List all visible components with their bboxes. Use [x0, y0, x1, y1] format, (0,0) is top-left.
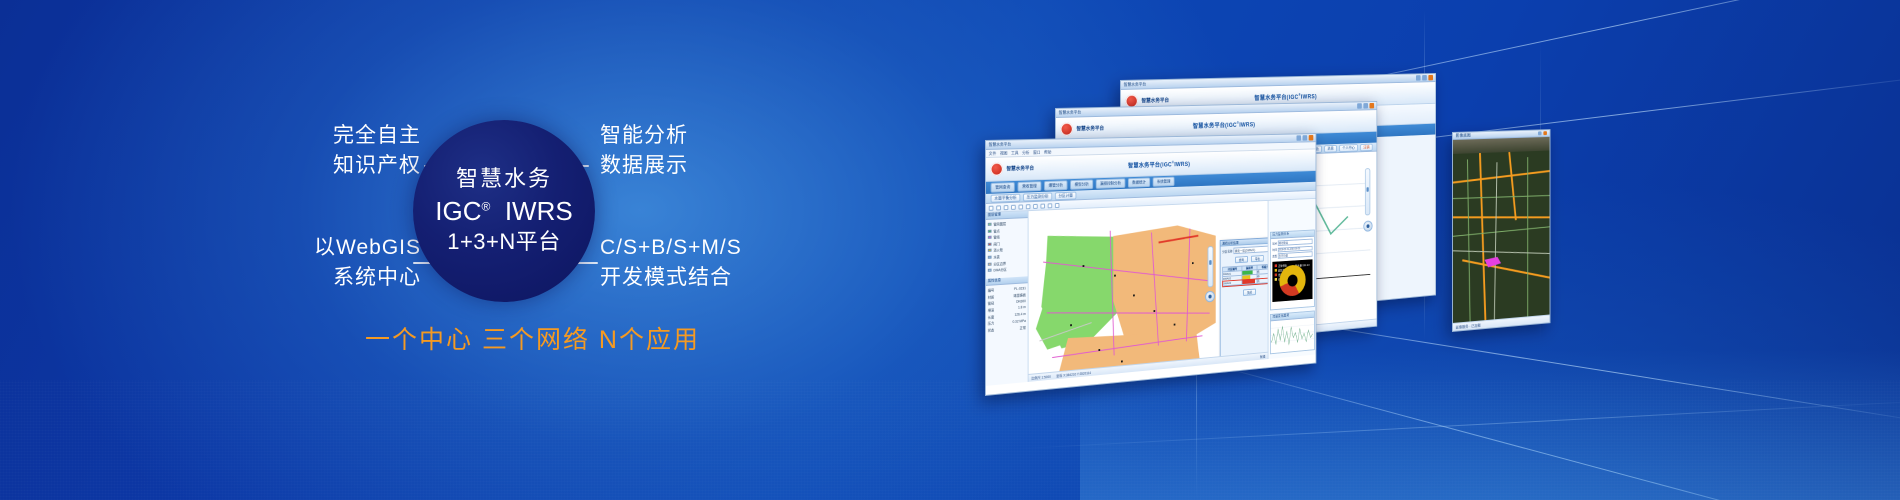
tree-node-label: 管点 — [993, 228, 999, 233]
tree-node-label: 分区边界 — [993, 260, 1006, 266]
core-badge: 智慧水务 IGC® IWRS 1+3+N平台 — [413, 120, 595, 302]
property-value: 1.8 m — [1018, 306, 1026, 311]
map-node[interactable] — [1114, 275, 1115, 277]
app-logo-icon — [1061, 123, 1073, 136]
window-controls[interactable] — [1296, 135, 1313, 141]
tree-node-label: 水表 — [993, 254, 999, 259]
status-coords: 坐标 X:384210 Y:3520114 — [1056, 370, 1091, 378]
feature-line-1: C/S+B/S+M/S — [600, 236, 742, 259]
cell-code: DMA03 — [1223, 280, 1242, 286]
feature-line-2: 开发模式结合 — [600, 263, 742, 293]
map-node[interactable] — [1154, 310, 1155, 312]
map-canvas[interactable]: 漏损分析结果 分区名称 城北一区(DMA01) 查询 导出 — [1029, 201, 1268, 382]
type-value[interactable]: 日平均值 — [1278, 251, 1313, 259]
status-text: 影像服务 · 已加载 — [1456, 322, 1481, 329]
left-pane: 图层管理 管网图层 管点 管线 阀门 消火栓 水表 分区边界 DMA分区 属性信… — [986, 211, 1029, 386]
hero-banner: 智慧水务 IGC® IWRS 1+3+N平台 完全自主 知识产权 智能分析 数据… — [0, 0, 1900, 500]
sub-tab-item[interactable]: 分区计量 — [1055, 191, 1076, 200]
tab-item[interactable]: 数据统计 — [1128, 177, 1150, 187]
tree-node-label: 管网图层 — [993, 221, 1006, 227]
core-code-main: IGC — [435, 196, 481, 226]
satellite-map[interactable] — [1453, 137, 1550, 331]
registered-mark-icon: ® — [482, 199, 491, 213]
property-key: 压力 — [988, 320, 994, 325]
dialog-footer[interactable]: 关闭 — [1222, 287, 1267, 297]
tree-node-label: DMA分区 — [993, 267, 1006, 273]
map-zoom-slider[interactable] — [1208, 246, 1214, 287]
layer-tree[interactable]: 管网图层 管点 管线 阀门 消火栓 水表 分区边界 DMA分区 — [986, 218, 1028, 275]
road-local — [1494, 162, 1497, 320]
properties-list: 编号PL-0231 材质球墨铸铁 管径DN300 埋深1.8 m 长度126.4… — [986, 283, 1028, 334]
app-window-satellite[interactable]: 影像底图 影像服 — [1452, 129, 1550, 332]
window-body: 图层管理 管网图层 管点 管线 阀门 消火栓 水表 分区边界 DMA分区 属性信… — [986, 199, 1316, 386]
result-table: 分区编号漏损率等级评价 DMA01低 DMA02中 DMA03高 — [1222, 263, 1267, 286]
menu-item[interactable]: 帮助 — [1044, 149, 1051, 155]
chart-panel: 压力监测分析 站点 城北泵站 时间 2016-05-01~2016-05-31 — [1270, 229, 1315, 310]
brand-title: 智慧水务平台 — [1006, 165, 1034, 173]
close-icon[interactable] — [1428, 75, 1433, 81]
dialog-input[interactable]: 城北一区(DMA01) — [1233, 245, 1267, 254]
property-value: 0.32 MPa — [1012, 319, 1025, 324]
minimize-icon[interactable] — [1296, 135, 1301, 141]
identify-tool-icon[interactable] — [1026, 204, 1031, 209]
map-node[interactable] — [1192, 262, 1193, 264]
map-node[interactable] — [1098, 349, 1099, 351]
property-key: 编号 — [988, 288, 994, 293]
pipe-line-secondary[interactable] — [1038, 379, 1210, 382]
toolbar-link[interactable]: 注销 — [1360, 143, 1372, 151]
close-button[interactable]: 关闭 — [1243, 289, 1256, 296]
feature-line-1: 智能分析 — [600, 124, 688, 147]
property-value: 正常 — [1020, 325, 1026, 330]
road-major — [1508, 152, 1516, 220]
center-title-tail: IWRS) — [1301, 94, 1317, 100]
donut-chart-container: 正常供水 超压供水 低压供水 停水分区 供水量 532.23 — [1272, 259, 1312, 302]
maximize-icon[interactable] — [1363, 103, 1368, 109]
select-tool-icon[interactable] — [1011, 204, 1016, 209]
donut-chart — [1279, 264, 1305, 297]
window-title: 影像底图 — [1456, 132, 1471, 138]
print-icon[interactable] — [1033, 203, 1038, 208]
cell-bar — [1242, 279, 1257, 285]
map-node[interactable] — [1133, 294, 1134, 296]
menu-item[interactable]: 工具 — [1011, 150, 1018, 156]
refresh-icon[interactable] — [1055, 202, 1059, 207]
property-key: 埋深 — [988, 307, 994, 312]
pan-tool-icon[interactable] — [989, 205, 994, 210]
center-title: 智慧水务平台(IGC®IWRS) — [1254, 92, 1316, 102]
zoom-out-icon[interactable] — [1004, 205, 1009, 210]
window-title: 智慧水务平台 — [1124, 81, 1146, 88]
slider-knob[interactable] — [1209, 260, 1211, 265]
layers-icon[interactable] — [1040, 203, 1045, 208]
type-label: 类型 — [1272, 254, 1277, 258]
filter-label: 站点 — [1272, 242, 1277, 246]
core-product-name: 智慧水务 — [456, 165, 552, 193]
tree-node-label: 管线 — [993, 234, 999, 239]
center-title-main: 智慧水务平台(IGC — [1193, 123, 1237, 130]
tab-item[interactable]: 系统管理 — [1153, 177, 1175, 187]
tab-item[interactable]: 漏损控制分析 — [1096, 178, 1126, 189]
menu-item[interactable]: 视图 — [1000, 150, 1007, 156]
dialog-input-label: 分区名称 — [1222, 249, 1232, 254]
tree-node-label: 消火栓 — [993, 247, 1002, 252]
tree-node-label: 阀门 — [993, 241, 999, 246]
window-controls[interactable] — [1357, 103, 1374, 109]
feature-bottom-right: C/S+B/S+M/S 开发模式结合 — [600, 233, 742, 294]
center-title-main: 智慧水务平台(IGC — [1128, 163, 1172, 170]
center-title-main: 智慧水务平台(IGC — [1254, 95, 1298, 102]
map-node[interactable] — [1174, 324, 1175, 326]
window-title: 智慧水务平台 — [1059, 109, 1081, 115]
app-logo-icon — [991, 163, 1003, 176]
tab-item[interactable]: 爆管分析 — [1044, 180, 1067, 191]
dialog-button-row[interactable]: 查询 导出 — [1222, 254, 1267, 264]
date-label: 时间 — [1272, 248, 1277, 252]
close-icon[interactable] — [1309, 135, 1314, 141]
feature-line-2: 数据展示 — [600, 151, 688, 181]
property-key: 长度 — [988, 314, 994, 319]
export-button[interactable]: 导出 — [1251, 255, 1264, 262]
property-key: 状态 — [988, 327, 994, 332]
feature-top-left: 完全自主 知识产权 — [305, 121, 421, 182]
tree-node[interactable]: 管网图层 — [988, 220, 1026, 227]
sparkline-panel: 流量变化趋势 — [1270, 310, 1315, 354]
dialog-body: 分区名称 城北一区(DMA01) 查询 导出 分区编号漏损率等级评价 DMA01… — [1221, 243, 1268, 302]
feature-line-2: 知识产权 — [305, 151, 421, 181]
core-platform-label: 1+3+N平台 — [447, 228, 561, 257]
feature-line-2: 系统中心 — [295, 263, 421, 293]
status-scale: 比例尺 1:5000 — [1031, 374, 1051, 381]
feature-line-1: 完全自主 — [333, 124, 421, 147]
property-value: 球墨铸铁 — [1013, 292, 1025, 298]
property-value: DN300 — [1016, 299, 1026, 304]
slider-knob[interactable] — [1366, 187, 1368, 192]
minimize-icon[interactable] — [1538, 131, 1542, 135]
core-code-tail: IWRS — [505, 196, 573, 226]
screenshot-stack: 智慧水务平台 智慧水务平台 智慧水务平台(IGC®IWRS) — [0, 0, 1900, 500]
center-title: 智慧水务平台(IGC®IWRS) — [1193, 120, 1255, 130]
tab-item[interactable]: 营收管理 — [1018, 181, 1042, 192]
road-minor — [1527, 157, 1528, 323]
road-minor — [1467, 159, 1471, 328]
property-row: 状态正常 — [988, 325, 1026, 333]
property-value: 126.4 m — [1015, 312, 1026, 317]
minimize-icon[interactable] — [1357, 103, 1362, 109]
status-state: 就绪 — [1260, 354, 1265, 359]
tab-item[interactable]: 模型分析 — [1070, 179, 1093, 190]
app-window-front[interactable]: 智慧水务平台 文件 视图 工具 分析 窗口 帮助 智慧水务平台 智慧水务平台(I… — [985, 133, 1316, 396]
feature-line-1: 以WebGIS — [314, 236, 421, 259]
window-title: 智慧水务平台 — [989, 141, 1011, 147]
query-button[interactable]: 查询 — [1235, 256, 1248, 263]
zoom-slider[interactable] — [1365, 168, 1370, 215]
close-icon[interactable] — [1370, 103, 1375, 109]
center-title-tail: IWRS) — [1174, 162, 1190, 168]
right-pane: 压力监测分析 站点 城北泵站 时间 2016-05-01~2016-05-31 — [1268, 199, 1316, 359]
close-icon[interactable] — [1543, 131, 1547, 135]
tree-node[interactable]: DMA分区 — [988, 266, 1026, 273]
maximize-icon[interactable] — [1422, 75, 1427, 81]
brand-title: 智慧水务平台 — [1141, 97, 1169, 105]
minimize-icon[interactable] — [1416, 75, 1421, 81]
property-key: 管径 — [988, 301, 994, 306]
menu-item[interactable]: 分析 — [1022, 149, 1029, 155]
property-value: PL-0231 — [1014, 286, 1026, 291]
brand-title: 智慧水务平台 — [1076, 125, 1104, 133]
map-node[interactable] — [1121, 360, 1122, 362]
road-major — [1462, 259, 1549, 280]
maximize-icon[interactable] — [1303, 135, 1308, 141]
toolbar-link[interactable]: 个人中心 — [1339, 144, 1358, 152]
map-top-terrain — [1453, 137, 1550, 154]
feature-bottom-left: 以WebGIS 系统中心 — [295, 233, 421, 294]
window-controls[interactable] — [1416, 75, 1433, 81]
center-title-tail: IWRS) — [1239, 122, 1255, 128]
sparkline-chart — [1271, 318, 1314, 353]
measure-tool-icon[interactable] — [1018, 204, 1023, 209]
search-icon[interactable] — [1048, 203, 1053, 208]
map-node[interactable] — [1070, 324, 1071, 326]
sub-tab-item[interactable]: 压力监测分析 — [1023, 192, 1052, 201]
cell-level: 高 — [1257, 278, 1268, 284]
map-node[interactable] — [1083, 265, 1084, 267]
property-key: 材质 — [988, 294, 994, 299]
tab-item[interactable]: 管网查询 — [991, 182, 1015, 193]
core-product-code: IGC® IWRS — [435, 195, 572, 229]
feature-top-right: 智能分析 数据展示 — [600, 121, 688, 182]
window-controls[interactable] — [1538, 131, 1547, 135]
zoom-in-icon[interactable] — [996, 205, 1001, 210]
menu-item[interactable]: 文件 — [989, 150, 996, 156]
center-title: 智慧水务平台(IGC®IWRS) — [1128, 159, 1190, 169]
menu-item[interactable]: 窗口 — [1033, 149, 1040, 155]
sub-tab-item[interactable]: 水量平衡分析 — [991, 193, 1021, 202]
tagline: 一个中心 三个网络 N个应用 — [365, 320, 700, 356]
pipe-line[interactable] — [1047, 312, 1210, 313]
toolbar-link[interactable]: 消息 — [1324, 144, 1337, 152]
